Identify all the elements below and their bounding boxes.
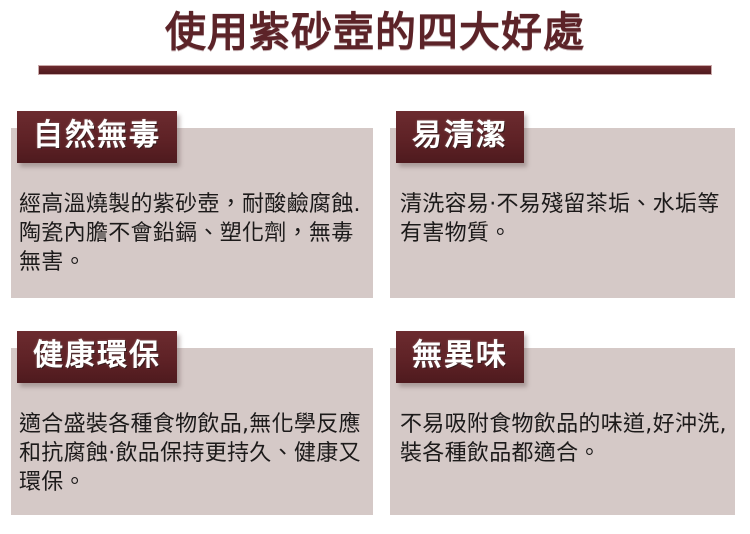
benefit-card-natural-nontoxic: 自然無毒 經高溫燒製的紫砂壺，耐酸鹼腐蝕.陶瓷內膽不會鉛鎘、塑化劑，無毒無害。 bbox=[11, 128, 373, 298]
benefit-body-text: 經高溫燒製的紫砂壺，耐酸鹼腐蝕.陶瓷內膽不會鉛鎘、塑化劑，無毒無害。 bbox=[19, 190, 363, 277]
infographic-poster: 使用紫砂壺的四大好處 自然無毒 經高溫燒製的紫砂壺，耐酸鹼腐蝕.陶瓷內膽不會鉛鎘… bbox=[0, 0, 750, 534]
benefit-card-no-odor: 無異味 不易吸附食物飲品的味道,好沖洗,裝各種飲品都適合。 bbox=[390, 348, 735, 515]
page-title: 使用紫砂壺的四大好處 bbox=[0, 6, 750, 58]
benefit-heading-badge: 易清潔 bbox=[396, 111, 524, 163]
poster-header: 使用紫砂壺的四大好處 bbox=[0, 0, 750, 96]
title-divider-rule bbox=[38, 65, 712, 75]
benefit-body-text: 適合盛裝各種食物飲品,無化學反應和抗腐蝕·飲品保持更持久、健康又環保。 bbox=[19, 410, 363, 497]
benefit-body-text: 不易吸附食物飲品的味道,好沖洗,裝各種飲品都適合。 bbox=[400, 410, 727, 468]
benefit-card-healthy-eco: 健康環保 適合盛裝各種食物飲品,無化學反應和抗腐蝕·飲品保持更持久、健康又環保。 bbox=[11, 348, 373, 515]
benefit-heading-badge: 無異味 bbox=[396, 331, 524, 383]
benefit-cards-grid: 自然無毒 經高溫燒製的紫砂壺，耐酸鹼腐蝕.陶瓷內膽不會鉛鎘、塑化劑，無毒無害。 … bbox=[0, 96, 750, 534]
benefit-card-easy-to-clean: 易清潔 清洗容易·不易殘留茶垢、水垢等有害物質。 bbox=[390, 128, 735, 298]
benefit-body-text: 清洗容易·不易殘留茶垢、水垢等有害物質。 bbox=[400, 190, 727, 248]
benefit-heading-badge: 健康環保 bbox=[17, 331, 177, 383]
benefit-heading-badge: 自然無毒 bbox=[17, 111, 177, 163]
